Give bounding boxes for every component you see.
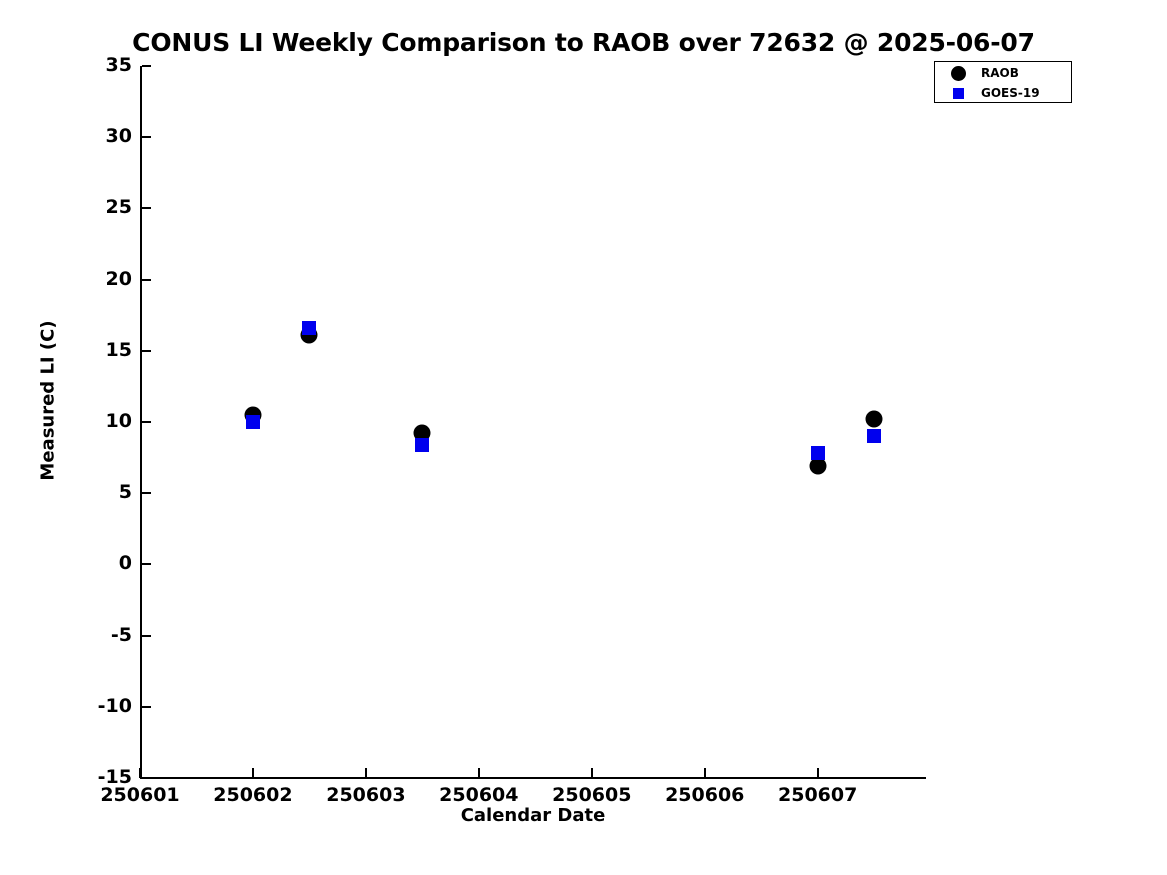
plot-area [140, 66, 925, 778]
x-tick-label: 250601 [100, 784, 179, 806]
y-tick-label: -5 [60, 624, 132, 646]
legend: RAOBGOES-19 [934, 61, 1072, 103]
y-axis-title: Measured LI (C) [38, 271, 59, 531]
y-tick-label: -10 [60, 695, 132, 717]
square-marker-icon [953, 88, 964, 99]
legend-entry: GOES-19 [935, 83, 1071, 103]
y-tick-label: 15 [60, 339, 132, 361]
x-tick-label: 250605 [552, 784, 631, 806]
data-point-goes-19 [811, 446, 825, 460]
x-tick-label: 250603 [326, 784, 405, 806]
chart-canvas: CONUS LI Weekly Comparison to RAOB over … [0, 0, 1167, 875]
x-tick-label: 250606 [665, 784, 744, 806]
y-tick-label: 30 [60, 125, 132, 147]
x-tick-label: 250607 [778, 784, 857, 806]
y-tick-label: 35 [60, 54, 132, 76]
chart-title: CONUS LI Weekly Comparison to RAOB over … [0, 28, 1167, 57]
y-tick-label: 25 [60, 196, 132, 218]
legend-entry: RAOB [935, 63, 1071, 83]
y-tick-label: 10 [60, 410, 132, 432]
legend-label: GOES-19 [981, 86, 1040, 100]
legend-label: RAOB [981, 66, 1019, 80]
circle-marker-icon [951, 66, 966, 81]
x-axis-title: Calendar Date [140, 805, 926, 826]
data-point-goes-19 [867, 429, 881, 443]
data-point-raob [866, 411, 883, 428]
data-point-goes-19 [415, 438, 429, 452]
x-tick-label: 250602 [213, 784, 292, 806]
y-tick-label: 5 [60, 481, 132, 503]
data-point-goes-19 [246, 415, 260, 429]
data-point-goes-19 [302, 321, 316, 335]
y-tick-label: 0 [60, 552, 132, 574]
y-tick-label: 20 [60, 268, 132, 290]
legend-marker-icon [935, 66, 981, 81]
x-tick-label: 250604 [439, 784, 518, 806]
legend-marker-icon [935, 88, 981, 99]
